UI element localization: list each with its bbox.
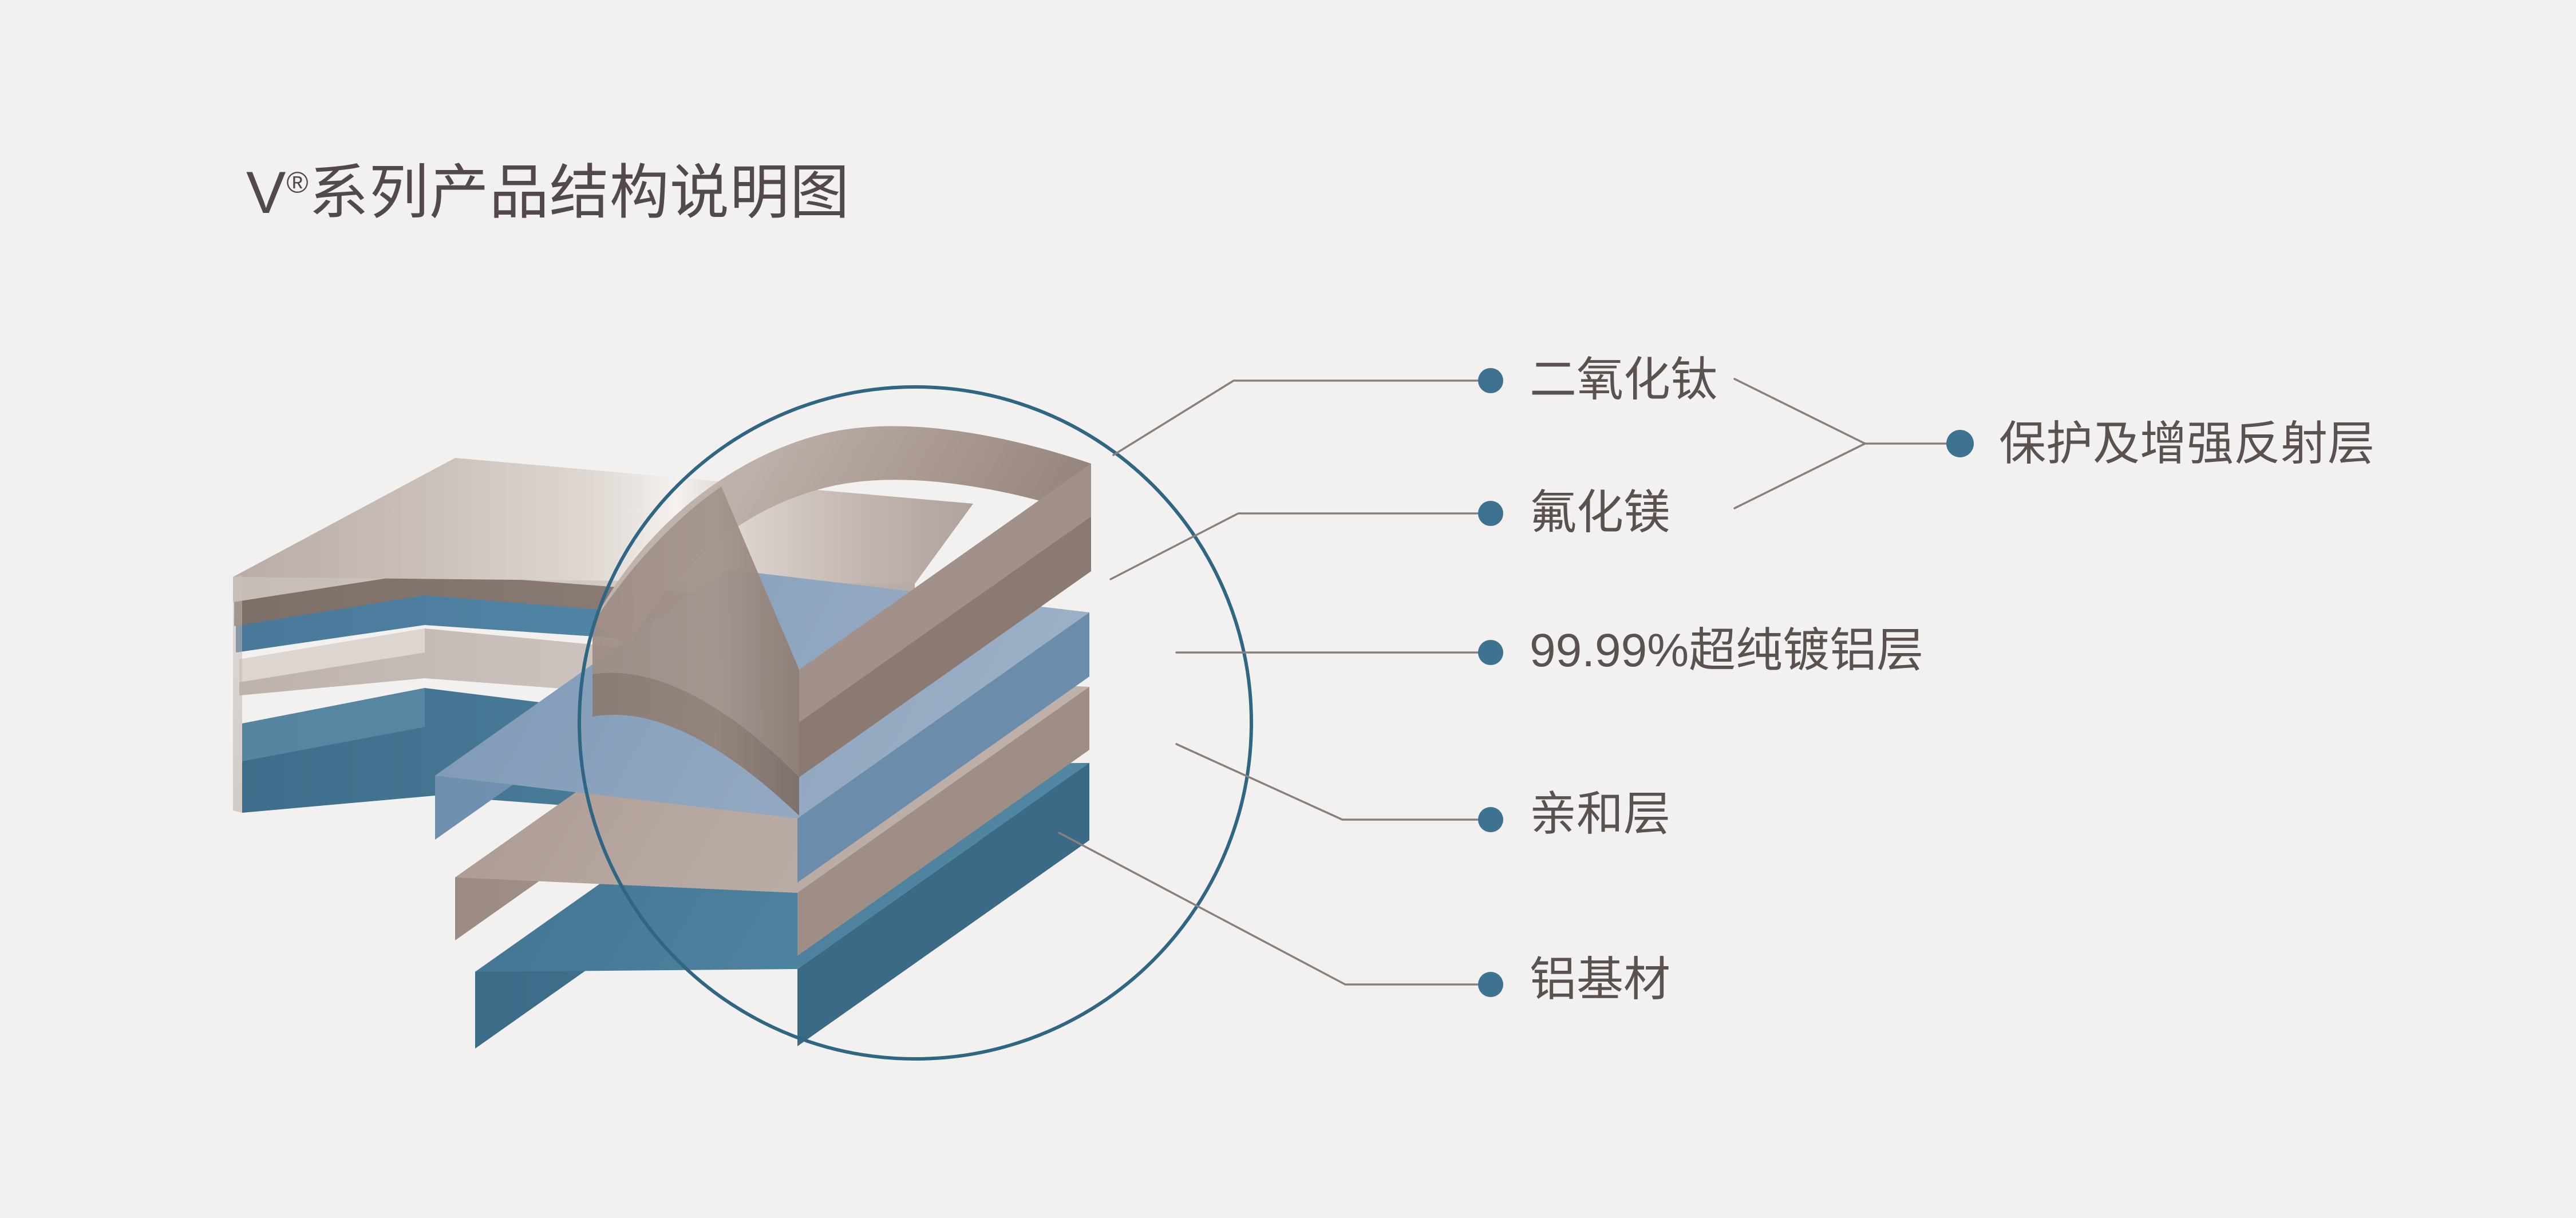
leader-line-aluminium-substrate	[1059, 833, 1479, 984]
callout-label-magnesium-fluoride: 氟化镁	[1530, 489, 1670, 536]
bullet-titanium-dioxide[interactable]	[1478, 368, 1503, 393]
bullet-aluminium-substrate[interactable]	[1478, 972, 1503, 997]
leader-line-titanium-dioxide	[1113, 381, 1479, 455]
callout-label-affinity-layer: 亲和层	[1530, 791, 1670, 838]
page-title-prefix: V	[246, 160, 286, 226]
leader-branch-protective-group	[1735, 379, 1865, 508]
bullet-affinity-layer[interactable]	[1478, 807, 1503, 832]
callout-label-protective-reflective-group: 保护及增强反射层	[1999, 421, 2374, 468]
leader-line-magnesium-fluoride	[1111, 513, 1479, 579]
bullet-protective-reflective-group[interactable]	[1946, 430, 1974, 457]
leader-line-affinity	[1176, 744, 1479, 820]
bullet-ultra-pure-aluminium[interactable]	[1478, 640, 1503, 665]
bullet-magnesium-fluoride[interactable]	[1478, 501, 1503, 526]
callout-label-aluminium-substrate: 铝基材	[1530, 956, 1670, 1003]
page-title-main: 系列产品结构说明图	[309, 160, 850, 226]
page-title: V®系列产品结构说明图	[246, 160, 850, 226]
diagram-canvas: V®系列产品结构说明图 二氧化钛 氟化镁 99.99%超纯镀铝层 亲和层 铝基材…	[0, 0, 2576, 1218]
registered-trademark-icon: ®	[286, 166, 309, 199]
callout-label-ultra-pure-aluminium: 99.99%超纯镀铝层	[1530, 627, 1923, 674]
callout-leaders	[1059, 379, 1949, 984]
flat-sheet-left-edge	[233, 575, 242, 813]
callout-label-titanium-dioxide: 二氧化钛	[1530, 357, 1717, 404]
callout-bullets	[1478, 368, 1974, 997]
